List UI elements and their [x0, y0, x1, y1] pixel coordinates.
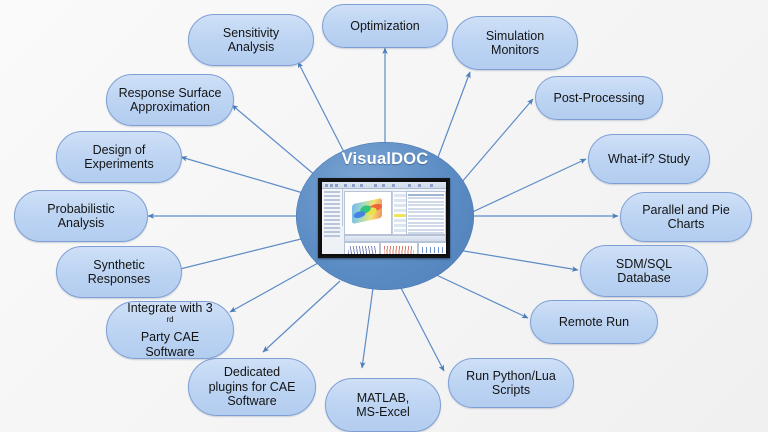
connector-what-if-study: [466, 159, 586, 215]
node-label-rsa-line2: Approximation: [119, 100, 222, 115]
node-matlab-ms-excel[interactable]: MATLAB, MS-Excel: [325, 378, 441, 432]
connector-sensitivity-analysis: [298, 62, 346, 156]
node-probabilistic-analysis[interactable]: Probabilistic Analysis: [14, 190, 148, 242]
node-label-sdm-sql-line1: SDM/SQL: [616, 257, 672, 272]
connector-design-of-experiments: [181, 157, 303, 193]
node-label-rsa-line1: Response Surface: [119, 86, 222, 101]
node-dedicated-plugins-for-cae-software[interactable]: Dedicated plugins for CAE Software: [188, 358, 316, 416]
node-label-python-lua-line2: Scripts: [466, 383, 556, 398]
node-integrate-with-3rd-party-cae-software[interactable]: Integrate with 3rd Party CAE Software: [106, 301, 234, 359]
connector-matlab: [362, 288, 373, 368]
node-label-optimization: Optimization: [350, 19, 419, 34]
node-label-probabilistic-line2: Analysis: [47, 216, 114, 231]
node-parallel-pie-charts[interactable]: Parallel and Pie Charts: [620, 192, 752, 242]
node-label-post-processing: Post-Processing: [553, 91, 644, 106]
connector-sdm-sql: [452, 249, 578, 270]
thumb-parallel-plot: [380, 242, 418, 254]
node-label-python-lua-line1: Run Python/Lua: [466, 369, 556, 384]
node-run-python-lua-scripts[interactable]: Run Python/Lua Scripts: [448, 358, 574, 408]
thumb-surface-plot: [344, 191, 392, 235]
thumb-sub-toolbar: [344, 235, 446, 242]
visualdoc-application-screenshot: [318, 178, 450, 258]
connector-python-lua: [400, 286, 444, 371]
node-response-surface-approximation[interactable]: Response Surface Approximation: [106, 74, 234, 126]
hub-title: VisualDOC: [296, 150, 474, 169]
node-label-sensitivity-line1: Sensitivity: [223, 26, 279, 41]
thumb-scatter-plot: [418, 242, 446, 254]
node-label-parallel-pie-line1: Parallel and Pie: [642, 203, 730, 218]
connector-dedicated-plugins: [263, 281, 340, 352]
thumb-toolbar: [322, 182, 446, 189]
connector-simulation-monitors: [437, 72, 470, 160]
node-label-integrate-line2: Party CAE: [127, 330, 212, 345]
node-simulation-monitors[interactable]: Simulation Monitors: [452, 16, 578, 70]
node-label-integrate-superscript: rd: [166, 314, 173, 323]
node-label-synthetic-line1: Synthetic: [88, 258, 151, 273]
node-optimization[interactable]: Optimization: [322, 4, 448, 48]
connector-remote-run: [430, 272, 528, 318]
node-post-processing[interactable]: Post-Processing: [535, 76, 663, 120]
thumb-data-table: [406, 191, 446, 235]
node-label-simulation-monitors-line2: Monitors: [486, 43, 544, 58]
connector-synthetic-responses: [172, 238, 305, 271]
thumb-line-plot: [344, 242, 380, 254]
thumb-tree-panel: [322, 189, 343, 226]
node-what-if-study[interactable]: What-if? Study: [588, 134, 710, 184]
node-synthetic-responses[interactable]: Synthetic Responses: [56, 246, 182, 298]
node-sensitivity-analysis[interactable]: Sensitivity Analysis: [188, 14, 314, 66]
node-label-synthetic-line2: Responses: [88, 272, 151, 287]
node-remote-run[interactable]: Remote Run: [530, 300, 658, 344]
node-design-of-experiments[interactable]: Design of Experiments: [56, 131, 182, 183]
node-label-dedicated-line2: plugins for CAE: [209, 380, 296, 395]
node-label-simulation-monitors-line1: Simulation: [486, 29, 544, 44]
connector-post-processing: [455, 99, 533, 190]
node-label-matlab-line1: MATLAB,: [356, 391, 409, 406]
node-label-integrate-line1: Integrate with 3rd: [127, 301, 212, 330]
node-label-probabilistic-line1: Probabilistic: [47, 202, 114, 217]
node-label-what-if-study: What-if? Study: [608, 152, 690, 167]
node-label-doe-line1: Design of: [84, 143, 153, 158]
node-label-sdm-sql-line2: Database: [616, 271, 672, 286]
diagram-canvas: VisualDOC: [0, 0, 768, 432]
node-label-sensitivity-line2: Analysis: [223, 40, 279, 55]
node-label-matlab-line2: MS-Excel: [356, 405, 409, 420]
node-sdm-sql-database[interactable]: SDM/SQL Database: [580, 245, 708, 297]
connector-integrate-3rd: [230, 263, 318, 312]
node-label-parallel-pie-line2: Charts: [642, 217, 730, 232]
node-label-integrate-line3: Software: [127, 345, 212, 360]
node-label-remote-run: Remote Run: [559, 315, 629, 330]
node-label-doe-line2: Experiments: [84, 157, 153, 172]
node-label-dedicated-line1: Dedicated: [209, 365, 296, 380]
node-label-dedicated-line3: Software: [209, 394, 296, 409]
